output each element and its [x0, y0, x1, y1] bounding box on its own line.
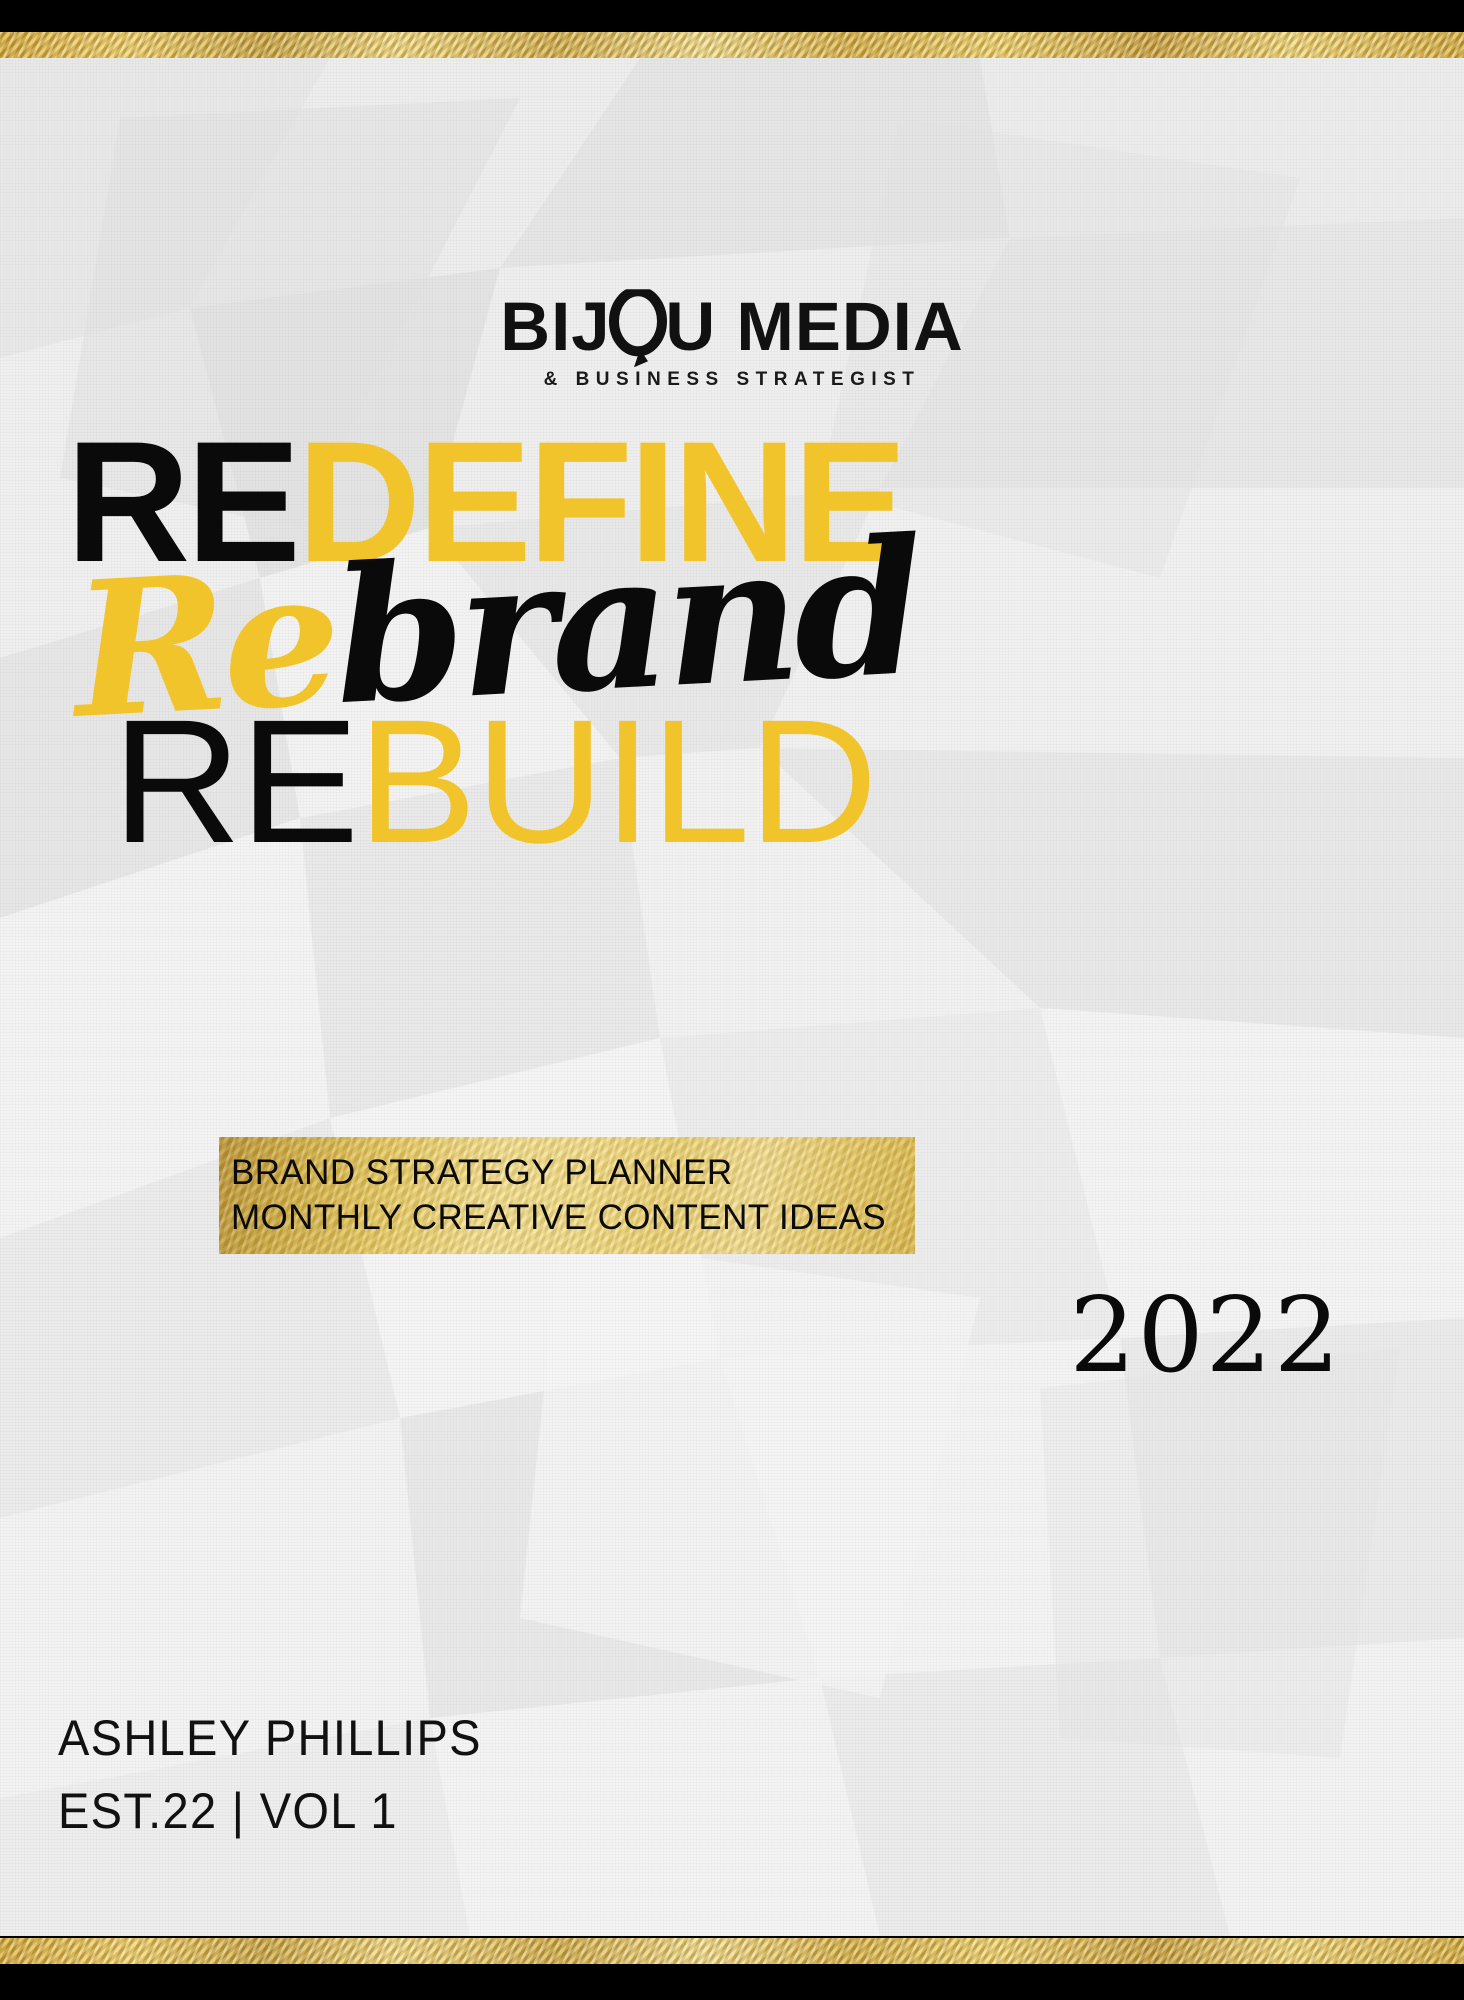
- cover-content: BIJOU MEDIA & BUSINESS STRATEGIST REDEFI…: [0, 0, 1464, 2000]
- byline-block: ASHLEY PHILLIPS EST.22 | VOL 1: [58, 1702, 509, 1848]
- headline-script-rebrand: Rebrand: [69, 514, 922, 744]
- brand-tagline: & BUSINESS STRATEGIST: [0, 369, 1464, 391]
- brand-logo-wordmark: BIJOU MEDIA: [500, 292, 963, 361]
- subtitle-line-1: BRAND STRATEGY PLANNER: [231, 1151, 915, 1196]
- lightbulb-o-icon: O: [611, 292, 666, 361]
- headline-block: REDEFINE REBUILD Rebrand: [0, 398, 1464, 1098]
- edition-label: EST.22 | VOL 1: [58, 1775, 482, 1848]
- year-label: 2022: [1069, 1283, 1342, 1387]
- script-brand: brand: [329, 497, 924, 746]
- brand-name-part-1: BIJ: [500, 288, 610, 365]
- brand-logo: BIJOU MEDIA & BUSINESS STRATEGIST: [0, 292, 1464, 391]
- subtitle-line-2: MONTHLY CREATIVE CONTENT IDEAS: [231, 1196, 915, 1241]
- brand-name-part-2: U MEDIA: [665, 288, 963, 365]
- cover-page: BIJOU MEDIA & BUSINESS STRATEGIST REDEFI…: [0, 0, 1464, 2000]
- subtitle-banner: BRAND STRATEGY PLANNER MONTHLY CREATIVE …: [219, 1137, 915, 1254]
- author-name: ASHLEY PHILLIPS: [58, 1702, 482, 1775]
- script-re: Re: [68, 527, 340, 759]
